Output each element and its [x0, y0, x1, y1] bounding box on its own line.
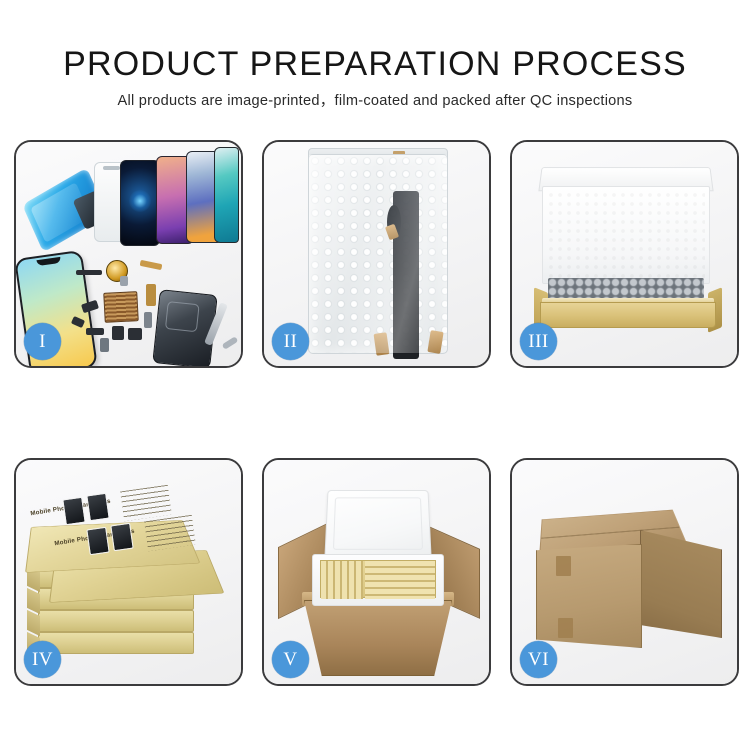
product-preparation-infographic: PRODUCT PREPARATION PROCESS All products… [0, 0, 750, 750]
spare-part-icon [120, 276, 128, 286]
carton-body-icon [304, 600, 452, 676]
step-card-iii: III [510, 140, 739, 368]
box-label-phone-thumb [86, 527, 109, 556]
process-steps-grid: I II [14, 140, 738, 686]
header: PRODUCT PREPARATION PROCESS All products… [0, 0, 750, 111]
chip-board-icon [103, 291, 139, 323]
phone-screen-dark-icon [120, 160, 160, 246]
carton-front-icon [536, 544, 642, 648]
step-badge-i: I [24, 323, 61, 360]
step-badge-vi: VI [520, 641, 557, 678]
step-card-vi: VI [510, 458, 739, 686]
flex-cable-icon [427, 330, 443, 354]
kraft-box-icon [38, 632, 194, 654]
packed-yellow-boxes-icon [320, 560, 436, 598]
box-label-spec-lines [120, 485, 172, 521]
box-label-phone-thumb [110, 523, 133, 552]
packed-part-icon [393, 191, 419, 359]
step-badge-iv: IV [24, 641, 61, 678]
box-label-phone-thumb [86, 493, 109, 522]
page-title: PRODUCT PREPARATION PROCESS [0, 44, 750, 84]
carton-side-icon [640, 530, 722, 638]
tape-icon [558, 618, 573, 638]
page-subtitle: All products are image-printed，film-coat… [0, 91, 750, 111]
spare-part-icon [76, 270, 102, 275]
step-badge-v: V [272, 641, 309, 678]
box-label-phone-thumb [62, 497, 85, 526]
step-card-v: V [262, 458, 491, 686]
repair-tool-icon [222, 336, 239, 350]
foam-case-lid-icon [324, 490, 431, 558]
bubble-wrap-bag-icon [308, 154, 448, 354]
step-card-iv: Mobile Phone Spare Parts Mobile Phone Sp… [14, 458, 243, 686]
flex-cable-icon [146, 284, 156, 306]
step-card-ii: II [262, 140, 491, 368]
spare-part-icon [100, 338, 109, 352]
flex-cable-icon [374, 332, 390, 356]
foam-sheet-icon [542, 186, 710, 284]
tape-icon [556, 556, 571, 576]
phone-screen-teal-icon [214, 147, 239, 243]
spare-part-icon [144, 312, 152, 328]
spare-part-icon [128, 328, 142, 340]
step-badge-iii: III [520, 323, 557, 360]
spare-part-icon [86, 328, 104, 335]
bag-highlight [309, 155, 447, 353]
phone-backplate-icon [152, 289, 217, 366]
spare-part-icon [112, 326, 124, 340]
step-badge-ii: II [272, 323, 309, 360]
step-card-i: I [14, 140, 243, 368]
kraft-box-front-icon [540, 302, 716, 328]
kraft-box-icon [38, 610, 194, 632]
flex-cable-icon [140, 260, 163, 270]
